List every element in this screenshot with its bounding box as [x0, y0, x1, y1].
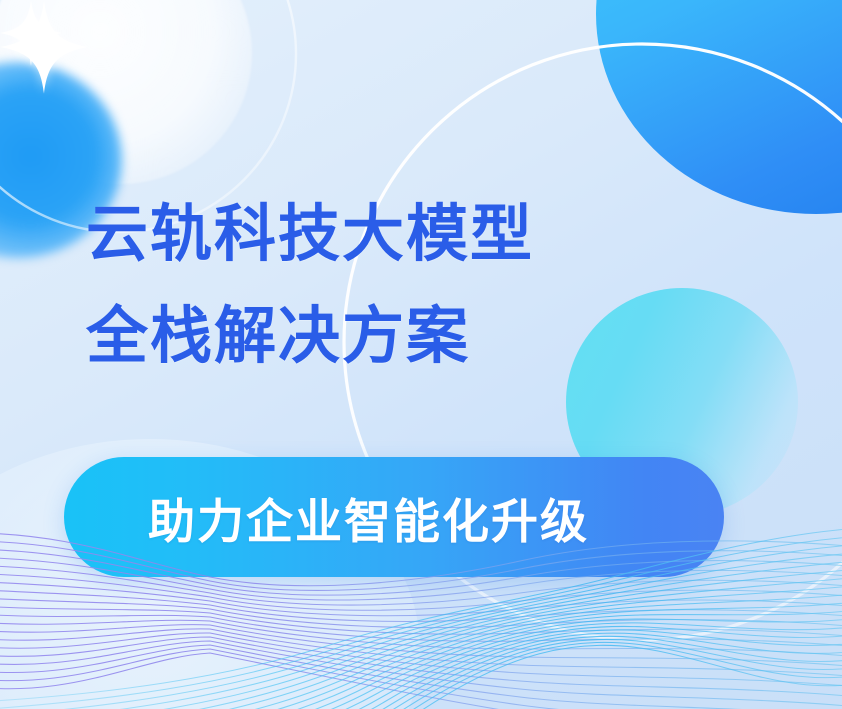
tagline-pill-label: 助力企业智能化升级	[148, 483, 589, 552]
sparkle-icon	[0, 0, 88, 94]
sparkle-icon	[0, 0, 62, 66]
headline-line-1: 云轨科技大模型	[86, 184, 686, 286]
promo-banner: 云轨科技大模型 全栈解决方案 助力企业智能化升级	[0, 0, 842, 709]
tagline-pill[interactable]: 助力企业智能化升级	[64, 457, 724, 577]
headline: 云轨科技大模型 全栈解决方案	[86, 184, 686, 388]
blob-top-right	[596, 0, 842, 214]
blob-top-left-halo	[0, 0, 252, 184]
headline-line-2: 全栈解决方案	[86, 286, 686, 388]
